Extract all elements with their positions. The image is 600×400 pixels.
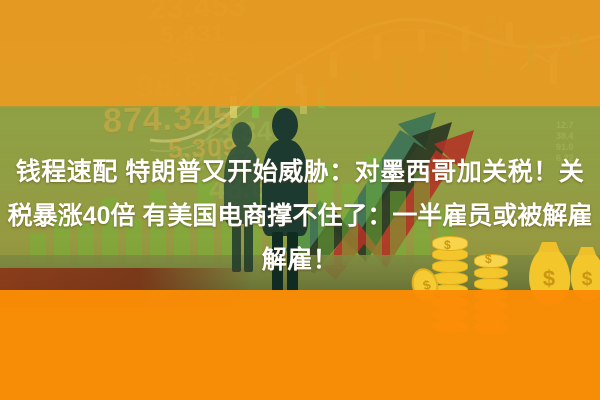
headline-line-2: 税暴涨40倍 有美国电商撑不住了：一半雇员或被解雇	[0, 194, 600, 238]
news-banner-image: 23.453 5,431 54 98.675 874.345 5.309 73.…	[0, 0, 600, 400]
headline-text: 钱程速配 特朗普又开始威胁：对墨西哥加关税！关 税暴涨40倍 有美国电商撑不住了…	[0, 150, 600, 282]
headline-line-1: 钱程速配 特朗普又开始威胁：对墨西哥加关税！关	[0, 150, 600, 194]
bottom-orange-color-block	[0, 290, 600, 400]
top-orange-color-block	[0, 0, 600, 106]
headline-line-3: 解雇！	[0, 238, 600, 282]
